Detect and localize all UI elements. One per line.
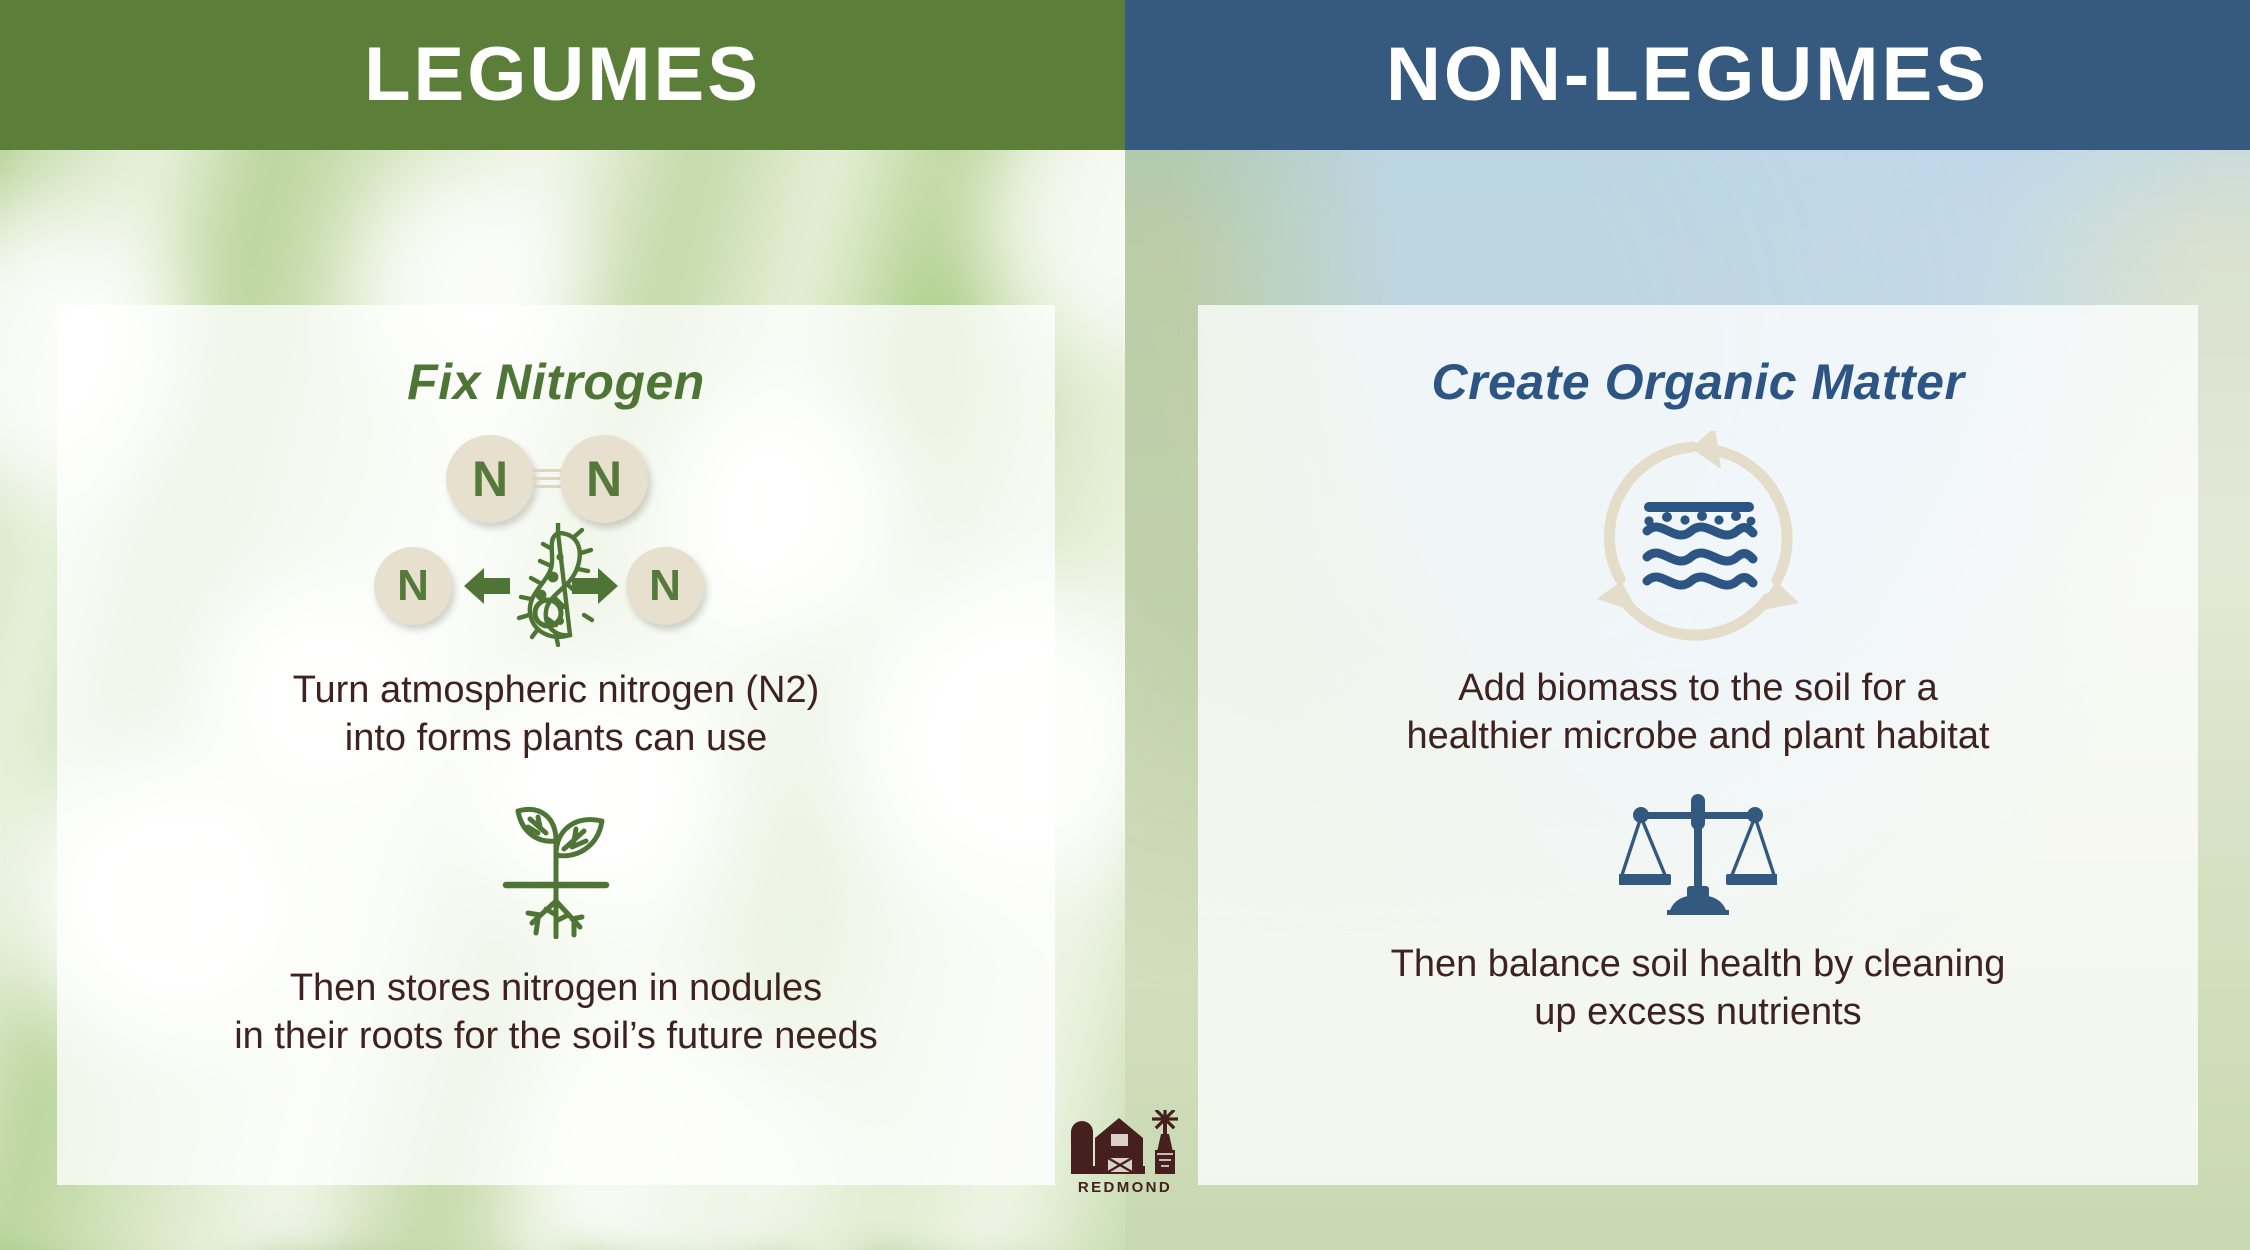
- non-legumes-card-title: Create Organic Matter: [1432, 357, 1965, 407]
- non-legumes-top-text-line2: healthier microbe and plant habitat: [1406, 713, 1989, 761]
- legumes-top-text-line2: into forms plants can use: [293, 715, 820, 763]
- non-legumes-bottom-text-line1: Then balance soil health by cleaning: [1391, 941, 2006, 989]
- header-non-legumes-title: NON-LEGUMES: [1386, 37, 1989, 113]
- header-legumes-title: LEGUMES: [364, 37, 761, 113]
- seedling-with-roots-icon: [488, 789, 624, 939]
- balance-scale-wrap: [1619, 787, 1777, 915]
- soil-organic-matter-cycle-icon: [1591, 431, 1805, 643]
- legumes-card: Fix Nitrogen N N N N: [57, 305, 1055, 1185]
- redmond-logo[interactable]: REDMOND: [1060, 1110, 1190, 1196]
- legumes-top-text-line1: Turn atmospheric nitrogen (N2): [293, 667, 820, 715]
- nitrogen-atom-icon: N: [374, 547, 452, 625]
- balance-scale-icon: [1619, 787, 1777, 915]
- header-legumes: LEGUMES: [0, 0, 1125, 150]
- header-non-legumes: NON-LEGUMES: [1125, 0, 2250, 150]
- infographic-root: LEGUMES NON-LEGUMES Fix Nitrogen N N N N: [0, 0, 2250, 1250]
- non-legumes-card: Create Organic Matter: [1198, 305, 2198, 1185]
- redmond-wordmark: REDMOND: [1078, 1179, 1172, 1196]
- bacteria-icon: [508, 523, 604, 647]
- non-legumes-top-text-line1: Add biomass to the soil for a: [1406, 665, 1989, 713]
- arrow-left-icon: [464, 565, 510, 607]
- seedling-icon-wrap: [488, 789, 624, 939]
- non-legumes-bottom-text-line2: up excess nutrients: [1391, 989, 2006, 1037]
- barn-silo-windmill-icon: [1067, 1110, 1183, 1176]
- legumes-bottom-text-line2: in their roots for the soil’s future nee…: [234, 1013, 878, 1061]
- nitrogen-fixation-diagram: N N N N: [296, 435, 816, 641]
- organic-matter-cycle-wrap: [1591, 431, 1805, 643]
- legumes-card-title: Fix Nitrogen: [407, 357, 705, 407]
- legumes-top-text: Turn atmospheric nitrogen (N2) into form…: [293, 667, 820, 763]
- nitrogen-atom-icon: N: [446, 435, 534, 523]
- legumes-bottom-text-line1: Then stores nitrogen in nodules: [234, 965, 878, 1013]
- nitrogen-atom-icon: N: [626, 547, 704, 625]
- non-legumes-bottom-text: Then balance soil health by cleaning up …: [1391, 941, 2006, 1037]
- legumes-bottom-text: Then stores nitrogen in nodules in their…: [234, 965, 878, 1061]
- non-legumes-top-text: Add biomass to the soil for a healthier …: [1406, 665, 1989, 761]
- triple-bond-icon: [532, 469, 562, 489]
- nitrogen-atom-icon: N: [560, 435, 648, 523]
